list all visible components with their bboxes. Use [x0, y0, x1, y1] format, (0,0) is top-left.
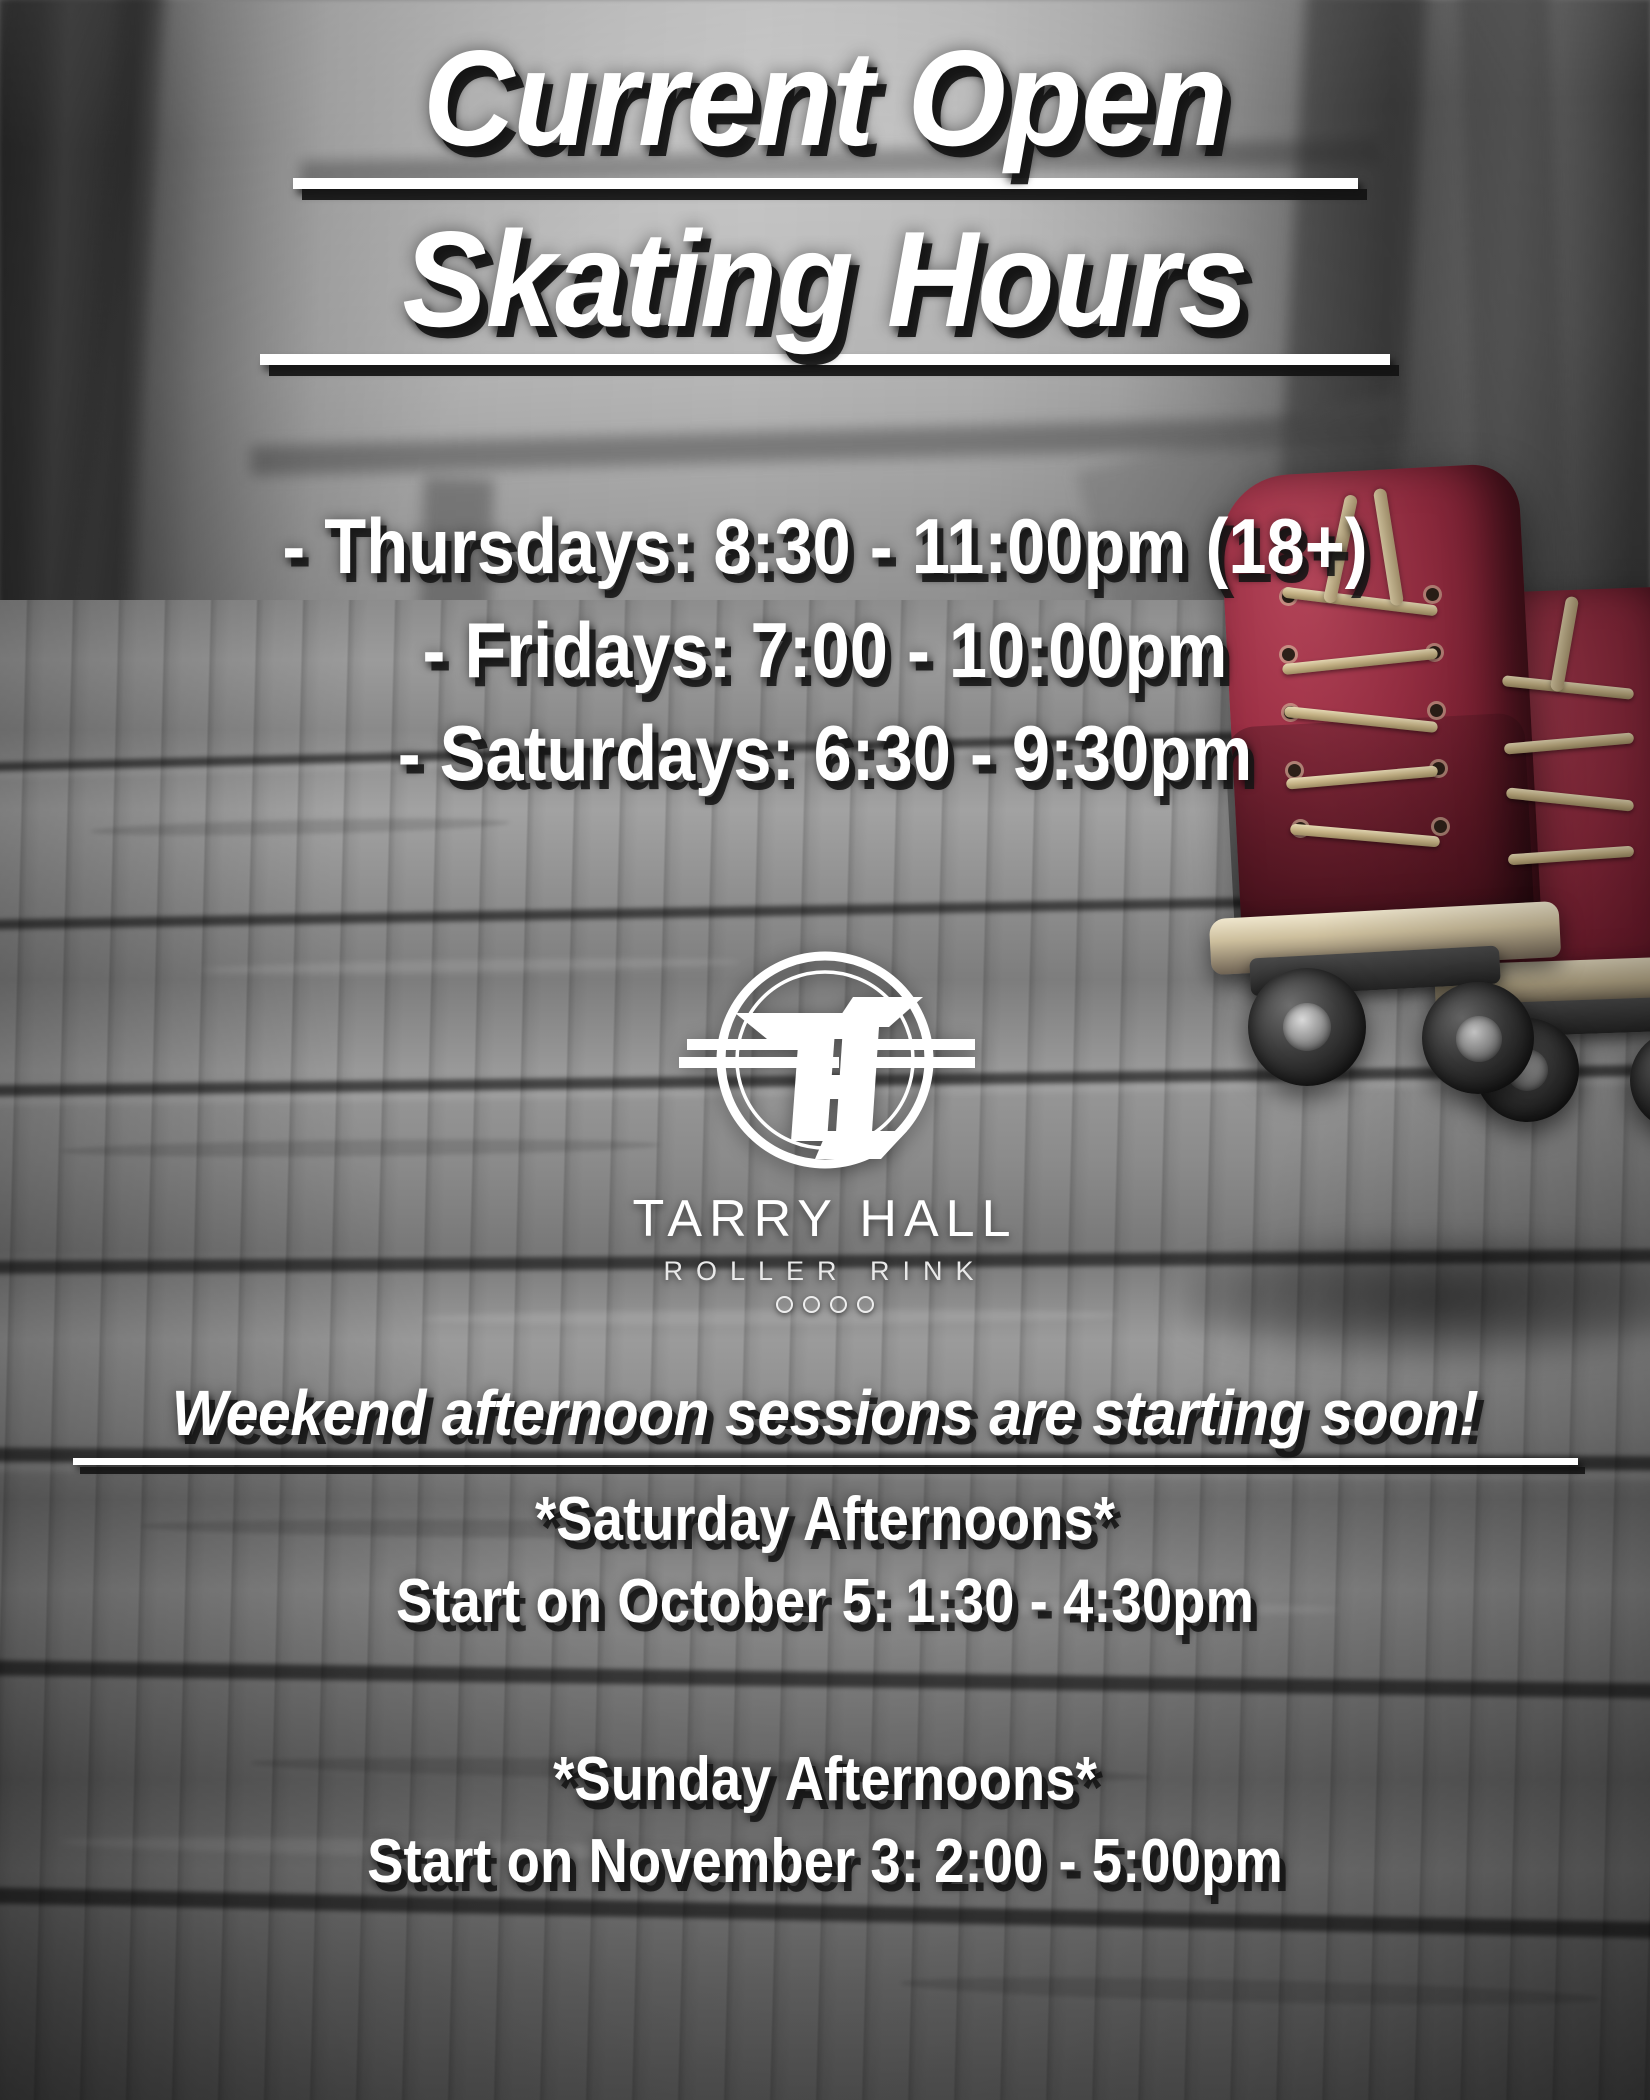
promo-saturday-label: *Saturday Afternoons* [99, 1479, 1551, 1561]
title-underline-1 [293, 178, 1358, 189]
title-line-1: Current Open [58, 26, 1593, 172]
logo-wheel-dots [776, 1296, 874, 1313]
schedule-item-friday: - Fridays: 7:00 - 10:00pm [99, 599, 1551, 703]
schedule-item-thursday: - Thursdays: 8:30 - 11:00pm (18+) [99, 495, 1551, 599]
tarry-hall-logo: TARRY HALL ROLLER RINK [0, 935, 1650, 1313]
logo-monogram-icon [675, 935, 975, 1185]
logo-brand-name: TARRY HALL [632, 1189, 1017, 1249]
logo-dot [857, 1296, 874, 1313]
flyer-content: Current Open Skating Hours - Thursdays: … [0, 0, 1650, 2100]
promo-spacer [0, 1643, 1650, 1739]
logo-dot [776, 1296, 793, 1313]
logo-dot [830, 1296, 847, 1313]
title-underline-2 [260, 354, 1390, 365]
promo-sunday-label: *Sunday Afternoons* [99, 1739, 1551, 1821]
weekend-sessions-promo: Weekend afternoon sessions are starting … [0, 1378, 1650, 1903]
promo-headline-underline [73, 1458, 1578, 1465]
promo-sunday-detail: Start on November 3: 2:00 - 5:00pm [99, 1821, 1551, 1903]
title-line-2: Skating Hours [58, 207, 1593, 353]
logo-brand-subtitle: ROLLER RINK [663, 1256, 986, 1287]
promo-headline: Weekend afternoon sessions are starting … [66, 1378, 1584, 1448]
flyer-poster: Current Open Skating Hours - Thursdays: … [0, 0, 1650, 2100]
promo-saturday-detail: Start on October 5: 1:30 - 4:30pm [99, 1561, 1551, 1643]
schedule-item-saturday: - Saturdays: 6:30 - 9:30pm [99, 702, 1551, 806]
page-title: Current Open Skating Hours [0, 26, 1650, 383]
open-skating-schedule: - Thursdays: 8:30 - 11:00pm (18+) - Frid… [0, 495, 1650, 806]
logo-dot [803, 1296, 820, 1313]
